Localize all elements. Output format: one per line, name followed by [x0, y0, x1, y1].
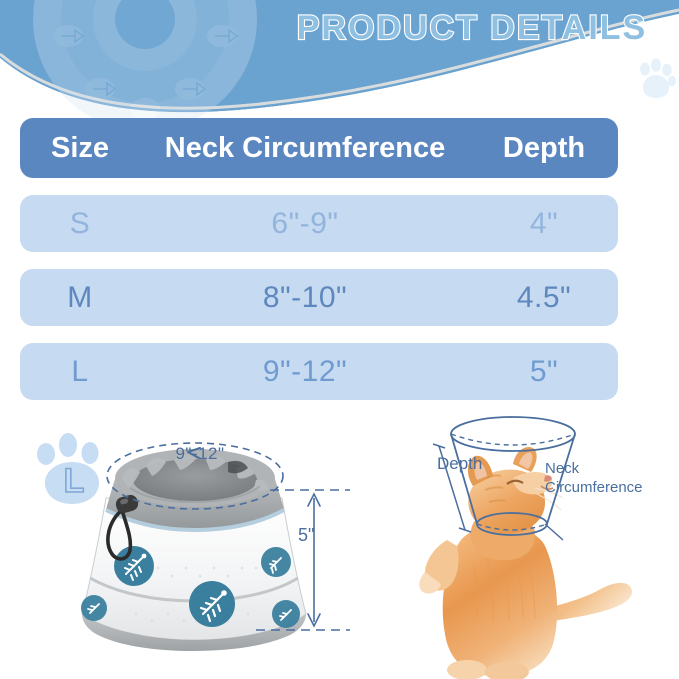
cell-size: M: [20, 269, 140, 326]
cell-size: L: [20, 343, 140, 400]
fishbone-patch: [81, 595, 107, 621]
table-row: M 8"-10" 4.5": [20, 269, 618, 326]
neck-leader-line: [545, 524, 563, 540]
table-row: S 6"-9" 4": [20, 195, 618, 252]
column-header-size: Size: [20, 118, 140, 178]
fishbone-patch: [261, 547, 291, 577]
cell-neck-circumference: 8"-10": [140, 269, 470, 326]
table-header-row: Size Neck Circumference Depth: [20, 118, 618, 178]
cell-neck-circumference: 9"-12": [140, 343, 470, 400]
cat-depth-label: Depth: [437, 454, 482, 474]
cell-depth: 5": [470, 343, 618, 400]
neck-label-line-2: Circumference: [545, 478, 643, 497]
cell-depth: 4.5": [470, 269, 618, 326]
cell-depth: 4": [470, 195, 618, 252]
cone-depth-label: 5": [298, 525, 314, 546]
page-title: PRODUCT DETAILS: [272, 6, 672, 50]
header-banner: PRODUCT DETAILS: [0, 0, 679, 118]
orange-tabby-cat: [395, 412, 679, 679]
paw-print-icon: [636, 58, 676, 100]
neck-label-line-1: Neck: [545, 459, 643, 478]
column-header-depth: Depth: [470, 118, 618, 178]
cell-neck-circumference: 6"-9": [140, 195, 470, 252]
cell-size: S: [20, 195, 140, 252]
column-header-neck-circumference: Neck Circumference: [140, 118, 470, 178]
fishbone-patch: [189, 581, 235, 627]
table-row: L 9"-12" 5": [20, 343, 618, 400]
fishbone-patch: [114, 546, 154, 586]
cat-measurement-diagram: Depth Neck Circumference: [395, 412, 679, 679]
product-details-page: PRODUCT DETAILS Size Neck Circumference …: [0, 0, 679, 679]
cone-neck-label: 9"-12": [140, 444, 260, 464]
cat-neck-circumference-label: Neck Circumference: [545, 459, 643, 497]
fishbone-patch: [272, 600, 300, 628]
cone-top-view-icon: [30, 0, 260, 118]
